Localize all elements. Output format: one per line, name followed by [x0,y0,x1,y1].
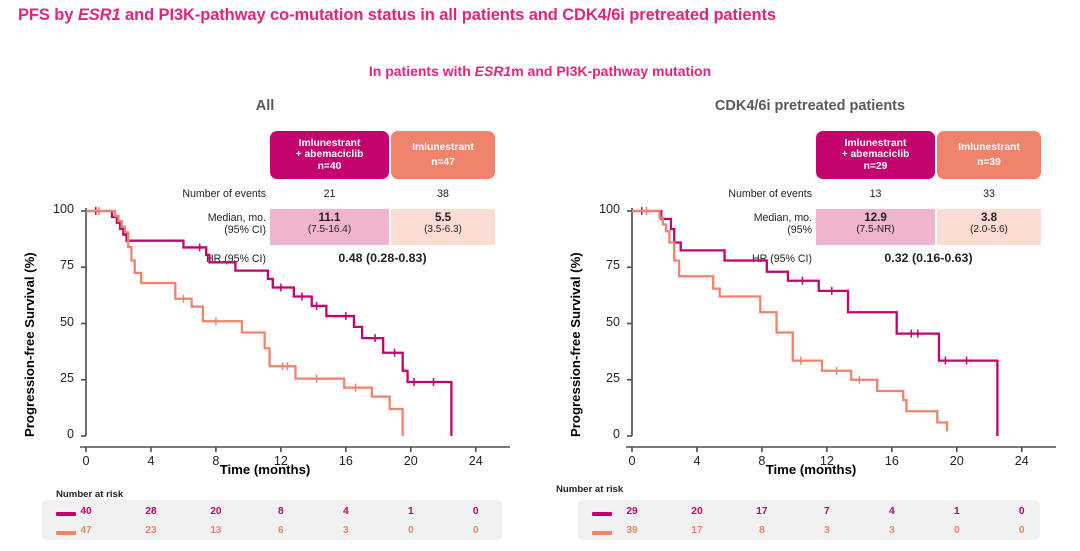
y-tick-label: 50 [40,315,74,329]
risk-number: 23 [138,525,164,536]
x-tick-label: 24 [1007,454,1037,468]
risk-number: 39 [619,525,645,536]
x-tick-label: 8 [201,454,231,468]
risk-number: 4 [879,506,905,517]
risk-title-all: Number at risk [56,489,123,500]
risk-number: 0 [463,506,489,517]
risk-number: 0 [463,525,489,536]
x-tick-label: 0 [617,454,647,468]
x-tick-label: 16 [331,454,361,468]
panel-cdk46i: CDK4/6i pretreated patients Imlunestrant… [540,0,1080,551]
risk-swatch-arm2 [592,531,612,535]
x-tick-label: 12 [812,454,842,468]
x-tick-label: 20 [942,454,972,468]
y-tick-label: 75 [40,258,74,272]
y-tick-label: 100 [586,202,620,216]
risk-number: 7 [814,506,840,517]
risk-number: 8 [749,525,775,536]
risk-number: 20 [203,506,229,517]
risk-number: 47 [73,525,99,536]
risk-number: 3 [879,525,905,536]
risk-number: 0 [1009,506,1035,517]
x-tick-label: 20 [396,454,426,468]
risk-number: 3 [333,525,359,536]
km-plot-cdk46i: Progression-free Survival (%) Time (mont… [540,0,1080,500]
panel-all: All Imlunestrant + abemaciclib n=40 Imlu… [0,0,540,551]
risk-number: 40 [73,506,99,517]
x-tick-label: 4 [136,454,166,468]
x-tick-label: 8 [747,454,777,468]
km-curves-all [0,0,540,500]
x-tick-label: 16 [877,454,907,468]
risk-number: 20 [684,506,710,517]
y-tick-label: 0 [40,427,74,441]
x-tick-label: 4 [682,454,712,468]
slide-root: PFS by ESR1 and PI3K-pathway co-mutation… [0,0,1080,551]
risk-number: 4 [333,506,359,517]
risk-number: 3 [814,525,840,536]
risk-number: 0 [944,525,970,536]
km-curves-cdk46i [540,0,1080,500]
x-tick-label: 0 [71,454,101,468]
risk-number: 17 [684,525,710,536]
risk-number: 28 [138,506,164,517]
risk-number: 0 [398,525,424,536]
y-tick-label: 25 [586,371,620,385]
y-tick-label: 75 [586,258,620,272]
risk-number: 6 [268,525,294,536]
risk-number: 17 [749,506,775,517]
risk-number: 13 [203,525,229,536]
risk-number: 0 [1009,525,1035,536]
risk-number: 29 [619,506,645,517]
risk-swatch-arm1 [592,512,612,516]
km-plot-all: Progression-free Survival (%) Time (mont… [0,0,540,500]
risk-number: 1 [398,506,424,517]
risk-number: 1 [944,506,970,517]
x-tick-label: 24 [461,454,491,468]
risk-title-cdk46i: Number at risk [556,484,623,495]
risk-number: 8 [268,506,294,517]
y-tick-label: 50 [586,315,620,329]
y-tick-label: 0 [586,427,620,441]
x-tick-label: 12 [266,454,296,468]
y-tick-label: 100 [40,202,74,216]
y-tick-label: 25 [40,371,74,385]
risk-box-cdk46i [578,500,1040,540]
